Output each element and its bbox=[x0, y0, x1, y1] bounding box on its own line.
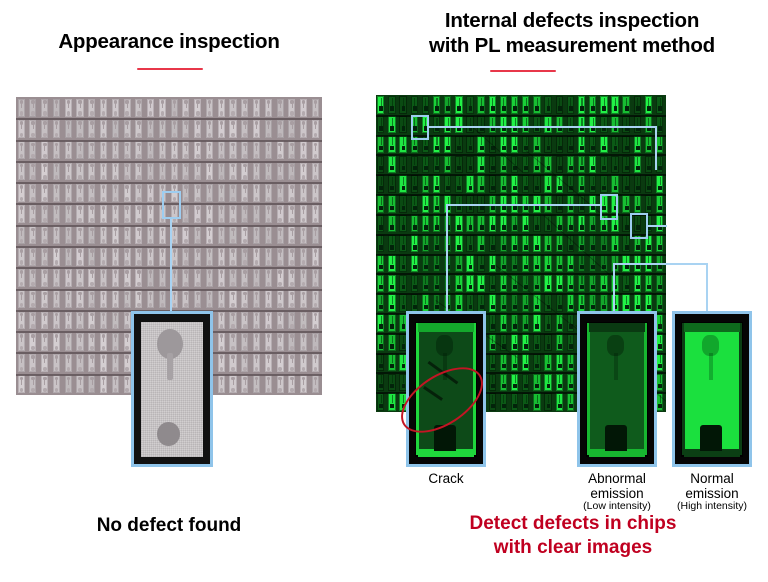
die-cell bbox=[228, 310, 240, 331]
pl-die-detail-abnormal[interactable] bbox=[577, 311, 657, 467]
die-cell bbox=[543, 372, 554, 392]
die-cell bbox=[51, 310, 63, 331]
die-cell bbox=[75, 182, 87, 203]
die-cell bbox=[169, 118, 181, 139]
die-cell bbox=[87, 118, 99, 139]
die-cell bbox=[488, 353, 499, 373]
die-cell bbox=[134, 225, 146, 246]
die-cell bbox=[488, 293, 499, 313]
die-cell bbox=[554, 372, 565, 392]
die-cell bbox=[110, 267, 122, 288]
die-cell bbox=[216, 203, 228, 224]
die-cell bbox=[75, 225, 87, 246]
die-cell bbox=[443, 174, 454, 194]
die-cell bbox=[216, 97, 228, 118]
die-cell bbox=[510, 333, 521, 353]
die-cell bbox=[51, 374, 63, 395]
die-cell bbox=[122, 118, 134, 139]
die-cell bbox=[98, 203, 110, 224]
die-cell bbox=[263, 140, 275, 161]
die-cell bbox=[40, 374, 52, 395]
die-cell bbox=[465, 254, 476, 274]
die-cell bbox=[577, 293, 588, 313]
die-cell bbox=[75, 352, 87, 373]
die-cell bbox=[621, 174, 632, 194]
die-cell bbox=[63, 331, 75, 352]
die-cell bbox=[110, 374, 122, 395]
die-cell bbox=[599, 273, 610, 293]
die-cell bbox=[145, 267, 157, 288]
die-cell bbox=[169, 161, 181, 182]
die-cell bbox=[98, 331, 110, 352]
die-cell bbox=[310, 374, 322, 395]
die-cell bbox=[476, 214, 487, 234]
die-cell bbox=[543, 115, 554, 135]
die-cell bbox=[75, 97, 87, 118]
die-cell bbox=[51, 246, 63, 267]
die-cell bbox=[87, 182, 99, 203]
die-cell bbox=[599, 95, 610, 115]
die-cell bbox=[421, 214, 432, 234]
die-cell bbox=[40, 331, 52, 352]
die-cell bbox=[110, 97, 122, 118]
die-cell bbox=[554, 392, 565, 412]
die-cell bbox=[193, 225, 205, 246]
die-cell bbox=[532, 313, 543, 333]
die-cell bbox=[275, 310, 287, 331]
die-cell bbox=[488, 313, 499, 333]
die-cell bbox=[521, 95, 532, 115]
die-cell bbox=[63, 310, 75, 331]
die-cell bbox=[298, 331, 310, 352]
die-cell bbox=[655, 293, 666, 313]
die-cell bbox=[216, 161, 228, 182]
die-cell bbox=[543, 234, 554, 254]
die-cell bbox=[275, 203, 287, 224]
scribe-line bbox=[16, 161, 322, 163]
die-cell bbox=[110, 161, 122, 182]
die-cell bbox=[387, 372, 398, 392]
die-cell bbox=[204, 203, 216, 224]
die-cell bbox=[610, 273, 621, 293]
die-cell bbox=[263, 374, 275, 395]
scribe-line bbox=[16, 289, 322, 291]
die-cell bbox=[87, 310, 99, 331]
die-cell bbox=[499, 372, 510, 392]
die-cell bbox=[488, 214, 499, 234]
die-cell bbox=[644, 135, 655, 155]
die-cell bbox=[298, 161, 310, 182]
die-cell bbox=[310, 289, 322, 310]
scribe-line bbox=[376, 214, 666, 216]
die-cell bbox=[98, 352, 110, 373]
die-cell bbox=[387, 214, 398, 234]
die-cell bbox=[376, 313, 387, 333]
die-cell bbox=[409, 234, 420, 254]
die-cell bbox=[610, 154, 621, 174]
die-cell bbox=[543, 313, 554, 333]
pl-die-detail-normal[interactable] bbox=[672, 311, 752, 467]
caption-normal-line2: emission bbox=[685, 486, 738, 501]
die-cell bbox=[554, 234, 565, 254]
die-cell bbox=[465, 273, 476, 293]
die-cell bbox=[228, 289, 240, 310]
die-cell bbox=[169, 97, 181, 118]
die-cell bbox=[588, 234, 599, 254]
die-cell bbox=[63, 118, 75, 139]
die-cell bbox=[63, 140, 75, 161]
die-cell bbox=[476, 234, 487, 254]
die-cell bbox=[621, 154, 632, 174]
die-cell bbox=[644, 154, 655, 174]
appearance-die-detail[interactable] bbox=[131, 311, 213, 467]
die-cell bbox=[409, 95, 420, 115]
die-cell bbox=[454, 254, 465, 274]
die-cell bbox=[588, 95, 599, 115]
die-cell bbox=[181, 161, 193, 182]
die-cell bbox=[287, 310, 299, 331]
die-cell bbox=[443, 115, 454, 135]
die-cell bbox=[134, 97, 146, 118]
die-cell bbox=[298, 118, 310, 139]
caption-normal-line1: Normal bbox=[690, 471, 734, 486]
die-cell bbox=[240, 310, 252, 331]
die-cell bbox=[263, 97, 275, 118]
selected-die-highlight-normal[interactable] bbox=[630, 213, 648, 239]
die-cell bbox=[63, 374, 75, 395]
die-cell bbox=[216, 310, 228, 331]
die-cell bbox=[499, 95, 510, 115]
die-cell bbox=[310, 161, 322, 182]
die-cell bbox=[454, 273, 465, 293]
die-cell bbox=[16, 97, 28, 118]
die-cell bbox=[454, 293, 465, 313]
die-cell bbox=[298, 97, 310, 118]
die-cell bbox=[51, 267, 63, 288]
die-cell bbox=[75, 118, 87, 139]
die-cell bbox=[488, 392, 499, 412]
die-cell bbox=[554, 333, 565, 353]
die-cell bbox=[633, 174, 644, 194]
selected-die-highlight-abnormal[interactable] bbox=[600, 194, 618, 220]
die-cell bbox=[543, 392, 554, 412]
scribe-line bbox=[16, 267, 322, 269]
die-cell bbox=[63, 182, 75, 203]
die-cell bbox=[287, 267, 299, 288]
die-cell bbox=[566, 333, 577, 353]
die-cell bbox=[251, 182, 263, 203]
die-cell bbox=[376, 372, 387, 392]
die-cell bbox=[443, 214, 454, 234]
die-cell bbox=[287, 203, 299, 224]
die-cell bbox=[409, 214, 420, 234]
die-cell bbox=[488, 273, 499, 293]
die-cell bbox=[287, 140, 299, 161]
die-cell bbox=[532, 234, 543, 254]
die-cell bbox=[63, 161, 75, 182]
die-cell bbox=[476, 293, 487, 313]
die-cell bbox=[110, 182, 122, 203]
die-cell bbox=[240, 225, 252, 246]
die-cell bbox=[134, 182, 146, 203]
die-cell bbox=[28, 161, 40, 182]
die-cell bbox=[87, 97, 99, 118]
die-cell bbox=[387, 135, 398, 155]
die-cell bbox=[204, 118, 216, 139]
die-cell bbox=[63, 267, 75, 288]
die-cell bbox=[421, 174, 432, 194]
die-cell bbox=[40, 140, 52, 161]
die-cell bbox=[454, 115, 465, 135]
die-cell bbox=[521, 353, 532, 373]
scribe-line bbox=[16, 140, 322, 142]
die-cell bbox=[28, 289, 40, 310]
die-cell bbox=[599, 174, 610, 194]
die-cell bbox=[387, 353, 398, 373]
die-cell bbox=[476, 95, 487, 115]
die-cell bbox=[566, 214, 577, 234]
die-cell bbox=[543, 95, 554, 115]
die-cell bbox=[181, 182, 193, 203]
die-cell bbox=[157, 246, 169, 267]
die-cell bbox=[240, 331, 252, 352]
die-cell bbox=[40, 267, 52, 288]
die-cell bbox=[134, 203, 146, 224]
die-cell bbox=[610, 95, 621, 115]
die-cell bbox=[122, 289, 134, 310]
die-cell bbox=[409, 194, 420, 214]
die-cell bbox=[398, 214, 409, 234]
die-cell bbox=[216, 225, 228, 246]
die-cell bbox=[228, 97, 240, 118]
die-cell bbox=[644, 273, 655, 293]
die-cell bbox=[577, 154, 588, 174]
die-cell bbox=[181, 246, 193, 267]
die-cell bbox=[193, 161, 205, 182]
die-cell bbox=[599, 115, 610, 135]
die-cell bbox=[157, 267, 169, 288]
die-cell bbox=[376, 154, 387, 174]
die-cell bbox=[488, 372, 499, 392]
die-cell bbox=[421, 293, 432, 313]
die-cell bbox=[543, 353, 554, 373]
die-cell bbox=[421, 154, 432, 174]
die-cell bbox=[263, 289, 275, 310]
right-panel-footer-line1: Detect defects in chips bbox=[382, 512, 764, 536]
die-cell bbox=[376, 234, 387, 254]
die-cell bbox=[193, 203, 205, 224]
selected-die-highlight-left[interactable] bbox=[162, 191, 181, 219]
scribe-line bbox=[16, 246, 322, 248]
die-cell bbox=[443, 95, 454, 115]
die-cell bbox=[240, 140, 252, 161]
die-cell bbox=[240, 374, 252, 395]
die-cell bbox=[532, 135, 543, 155]
die-cell bbox=[51, 182, 63, 203]
die-cell bbox=[387, 194, 398, 214]
die-cell bbox=[599, 154, 610, 174]
die-cell bbox=[275, 246, 287, 267]
die-cell bbox=[87, 225, 99, 246]
die-cell bbox=[588, 135, 599, 155]
die-cell bbox=[398, 95, 409, 115]
die-cell bbox=[566, 353, 577, 373]
die-cell bbox=[521, 214, 532, 234]
die-cell bbox=[621, 273, 632, 293]
die-cell bbox=[145, 118, 157, 139]
right-panel-footer-line2: with clear images bbox=[382, 536, 764, 560]
die-cell bbox=[228, 118, 240, 139]
die-cell bbox=[476, 273, 487, 293]
die-cell bbox=[157, 161, 169, 182]
die-cell bbox=[499, 234, 510, 254]
die-cell bbox=[181, 140, 193, 161]
die-cell bbox=[510, 293, 521, 313]
die-image-grey bbox=[134, 314, 210, 464]
die-cell bbox=[228, 161, 240, 182]
die-cell bbox=[16, 289, 28, 310]
die-cell bbox=[633, 135, 644, 155]
die-cell bbox=[510, 313, 521, 333]
die-cell bbox=[488, 254, 499, 274]
caption-abnormal-line2: emission bbox=[590, 486, 643, 501]
die-cell bbox=[51, 203, 63, 224]
die-cell bbox=[287, 118, 299, 139]
selected-die-highlight-crack[interactable] bbox=[411, 115, 429, 140]
die-cell bbox=[228, 374, 240, 395]
die-cell bbox=[298, 140, 310, 161]
die-cell bbox=[240, 182, 252, 203]
die-cell bbox=[610, 135, 621, 155]
leader-line-mid-v bbox=[613, 263, 615, 311]
die-cell bbox=[532, 174, 543, 194]
die-cell bbox=[98, 246, 110, 267]
die-cell bbox=[28, 267, 40, 288]
die-cell bbox=[633, 273, 644, 293]
die-cell bbox=[376, 273, 387, 293]
die-cell bbox=[263, 203, 275, 224]
right-panel-footer: Detect defects in chips with clear image… bbox=[382, 512, 764, 560]
die-cell bbox=[275, 182, 287, 203]
die-cell bbox=[216, 140, 228, 161]
die-cell bbox=[432, 95, 443, 115]
die-cell bbox=[204, 289, 216, 310]
die-cell bbox=[644, 293, 655, 313]
die-cell bbox=[98, 161, 110, 182]
die-cell bbox=[554, 273, 565, 293]
die-cell bbox=[621, 135, 632, 155]
die-cell bbox=[275, 374, 287, 395]
die-cell bbox=[510, 254, 521, 274]
die-cell bbox=[521, 115, 532, 135]
die-cell bbox=[110, 118, 122, 139]
die-cell bbox=[204, 140, 216, 161]
die-cell bbox=[16, 267, 28, 288]
die-cell bbox=[454, 214, 465, 234]
die-cell bbox=[204, 97, 216, 118]
die-cell bbox=[510, 135, 521, 155]
die-cell bbox=[421, 254, 432, 274]
die-cell bbox=[110, 352, 122, 373]
die-cell bbox=[28, 352, 40, 373]
die-cell bbox=[432, 273, 443, 293]
die-cell bbox=[287, 97, 299, 118]
die-cell bbox=[181, 289, 193, 310]
die-cell bbox=[398, 273, 409, 293]
die-cell bbox=[216, 331, 228, 352]
die-cell bbox=[181, 267, 193, 288]
die-cell bbox=[122, 225, 134, 246]
die-cell bbox=[310, 182, 322, 203]
die-cell bbox=[28, 225, 40, 246]
die-cell bbox=[181, 97, 193, 118]
die-cell bbox=[63, 246, 75, 267]
die-cell bbox=[454, 135, 465, 155]
die-cell bbox=[181, 225, 193, 246]
die-cell bbox=[398, 254, 409, 274]
die-cell bbox=[610, 293, 621, 313]
die-cell bbox=[644, 95, 655, 115]
die-cell bbox=[465, 234, 476, 254]
die-cell bbox=[16, 374, 28, 395]
die-cell bbox=[251, 267, 263, 288]
die-cell bbox=[240, 267, 252, 288]
die-cell bbox=[228, 225, 240, 246]
die-cell bbox=[521, 392, 532, 412]
die-cell bbox=[521, 293, 532, 313]
die-cell bbox=[228, 267, 240, 288]
die-cell bbox=[532, 333, 543, 353]
die-cell bbox=[476, 154, 487, 174]
die-cell bbox=[193, 140, 205, 161]
die-cell bbox=[145, 161, 157, 182]
die-cell bbox=[87, 331, 99, 352]
die-cell bbox=[98, 267, 110, 288]
die-image-abnormal bbox=[580, 314, 654, 464]
die-cell bbox=[409, 254, 420, 274]
die-cell bbox=[275, 118, 287, 139]
die-cell bbox=[421, 234, 432, 254]
die-cell bbox=[488, 115, 499, 135]
die-cell bbox=[75, 310, 87, 331]
die-cell bbox=[251, 118, 263, 139]
die-cell bbox=[275, 161, 287, 182]
die-cell bbox=[263, 246, 275, 267]
die-cell bbox=[499, 115, 510, 135]
die-cell bbox=[287, 246, 299, 267]
die-cell bbox=[621, 194, 632, 214]
die-cell bbox=[577, 174, 588, 194]
die-cell bbox=[443, 135, 454, 155]
die-cell bbox=[40, 118, 52, 139]
die-cell bbox=[263, 182, 275, 203]
die-cell bbox=[566, 273, 577, 293]
die-cell bbox=[251, 374, 263, 395]
scribe-line bbox=[16, 182, 322, 184]
die-cell bbox=[228, 182, 240, 203]
die-cell bbox=[16, 246, 28, 267]
die-cell bbox=[228, 140, 240, 161]
die-cell bbox=[16, 140, 28, 161]
die-cell bbox=[87, 246, 99, 267]
die-cell bbox=[216, 352, 228, 373]
die-cell bbox=[398, 174, 409, 194]
die-cell bbox=[240, 246, 252, 267]
die-cell bbox=[122, 267, 134, 288]
die-cell bbox=[98, 310, 110, 331]
die-cell bbox=[204, 267, 216, 288]
die-cell bbox=[588, 174, 599, 194]
